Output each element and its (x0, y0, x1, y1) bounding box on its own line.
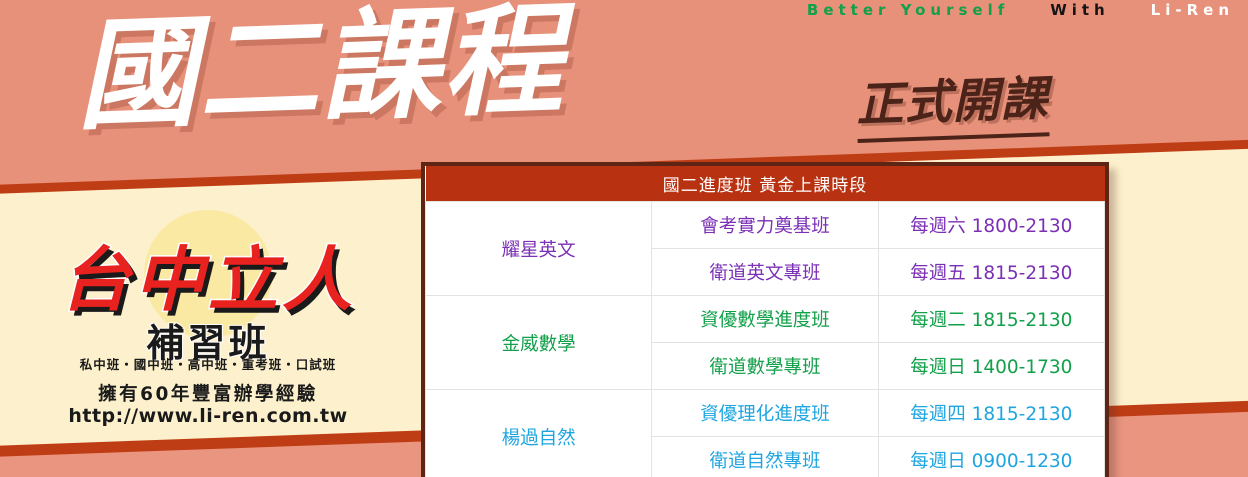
logo-name: 台中立人 (28, 224, 388, 325)
cell-course: 衛道自然專班 (652, 437, 878, 477)
hero-title: 國二課程 (74, 0, 566, 144)
cell-time: 每週日 0900-1230 (878, 437, 1104, 477)
hero-subtitle: 正式開課 (855, 59, 1050, 143)
schedule-header-row: 國二進度班 黃金上課時段 (426, 166, 1105, 202)
schedule-table-container: 國二進度班 黃金上課時段 耀星英文會考實力奠基班每週六 1800-2130衛道英… (421, 162, 1109, 477)
cell-course: 資優數學進度班 (652, 296, 878, 343)
cell-time: 每週四 1815-2130 (878, 390, 1104, 437)
website-url[interactable]: http://www.li-ren.com.tw (28, 405, 388, 427)
cell-teacher: 耀星英文 (426, 202, 652, 296)
cell-time: 每週日 1400-1730 (878, 343, 1104, 390)
table-row: 耀星英文會考實力奠基班每週六 1800-2130 (426, 202, 1105, 249)
cell-teacher: 楊過自然 (426, 390, 652, 477)
cell-teacher: 金威數學 (426, 296, 652, 390)
tagline-part-3: Li-Ren (1151, 1, 1234, 19)
cell-time: 每週六 1800-2130 (878, 202, 1104, 249)
cell-course: 衛道數學專班 (652, 343, 878, 390)
cell-time: 每週二 1815-2130 (878, 296, 1104, 343)
schedule-body: 耀星英文會考實力奠基班每週六 1800-2130衛道英文專班每週五 1815-2… (426, 202, 1105, 477)
cell-course: 資優理化進度班 (652, 390, 878, 437)
tagline: Better Yourself With Li-Ren (807, 1, 1234, 19)
logo-block: 台中立人 補習班 私中班・國中班・高中班・重考班・口試班 擁有60年豐富辦學經驗… (28, 196, 388, 426)
logo-categories: 私中班・國中班・高中班・重考班・口試班 (28, 354, 388, 373)
schedule-header-title: 國二進度班 黃金上課時段 (426, 166, 1105, 202)
experience-text: 擁有60年豐富辦學經驗 (28, 380, 388, 406)
table-row: 金威數學資優數學進度班每週二 1815-2130 (426, 296, 1105, 343)
promo-banner: Better Yourself With Li-Ren 國二課程 正式開課 台中… (0, 0, 1248, 477)
cell-time: 每週五 1815-2130 (878, 249, 1104, 296)
tagline-part-1: Better Yourself (807, 1, 1009, 19)
tagline-part-2: With (1050, 1, 1110, 19)
cell-course: 衛道英文專班 (652, 249, 878, 296)
table-row: 楊過自然資優理化進度班每週四 1815-2130 (426, 390, 1105, 437)
cell-course: 會考實力奠基班 (652, 202, 878, 249)
schedule-table: 國二進度班 黃金上課時段 耀星英文會考實力奠基班每週六 1800-2130衛道英… (425, 166, 1105, 477)
